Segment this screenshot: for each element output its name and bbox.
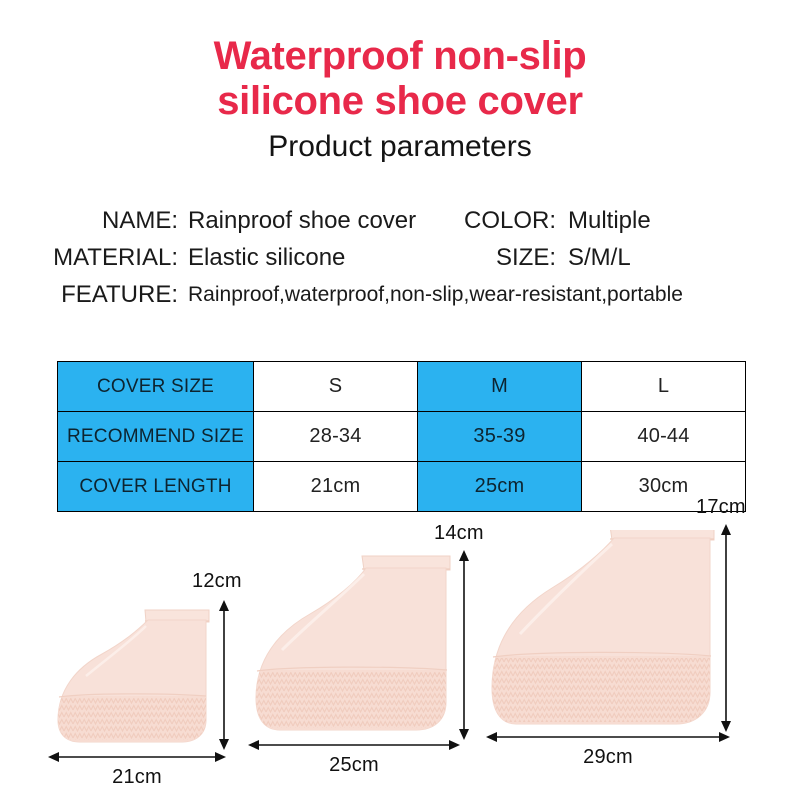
shoe-group-large: 17cm 29cm bbox=[486, 530, 746, 800]
feature-label: FEATURE: bbox=[0, 280, 178, 310]
shoe-group-small: 12cm 21cm bbox=[46, 550, 236, 800]
spec-row-feature: FEATURE: Rainproof,waterproof,non-slip,w… bbox=[0, 280, 800, 317]
shoe-large-height-arrow bbox=[716, 524, 736, 732]
shoe-medium-height-arrow bbox=[454, 550, 474, 740]
shoe-small-height-label: 12cm bbox=[192, 570, 242, 593]
cell-recommend-size-header: RECOMMEND SIZE bbox=[58, 412, 254, 462]
cell-cover-length-header: COVER LENGTH bbox=[58, 462, 254, 512]
spec-row-material: MATERIAL: Elastic silicone SIZE: S/M/L bbox=[0, 243, 800, 280]
cell-recommend-s: 28-34 bbox=[254, 412, 418, 462]
size-label: SIZE: bbox=[296, 243, 556, 273]
color-label: COLOR: bbox=[296, 206, 556, 236]
cell-size-m: M bbox=[418, 362, 582, 412]
cell-recommend-m: 35-39 bbox=[418, 412, 582, 462]
title-block: Waterproof non-slip silicone shoe cover bbox=[0, 34, 800, 124]
spec-block: NAME: Rainproof shoe cover COLOR: Multip… bbox=[0, 206, 800, 317]
cell-cover-size-header: COVER SIZE bbox=[58, 362, 254, 412]
name-label: NAME: bbox=[0, 206, 178, 236]
color-value: Multiple bbox=[568, 206, 651, 236]
table-row: COVER SIZE S M L bbox=[58, 362, 746, 412]
cell-size-l: L bbox=[582, 362, 746, 412]
material-label: MATERIAL: bbox=[0, 243, 178, 273]
shoe-small-width-label: 21cm bbox=[48, 766, 226, 789]
shoe-large-width-label: 29cm bbox=[486, 746, 730, 769]
shoe-small-height-arrow bbox=[214, 600, 234, 750]
cell-length-m: 25cm bbox=[418, 462, 582, 512]
table-row: RECOMMEND SIZE 28-34 35-39 40-44 bbox=[58, 412, 746, 462]
shoe-small-width-arrow bbox=[48, 748, 226, 766]
feature-value: Rainproof,waterproof,non-slip,wear-resis… bbox=[188, 280, 683, 310]
spec-row-name: NAME: Rainproof shoe cover COLOR: Multip… bbox=[0, 206, 800, 243]
subtitle: Product parameters bbox=[0, 129, 800, 165]
size-table: COVER SIZE S M L RECOMMEND SIZE 28-34 35… bbox=[57, 361, 746, 512]
cell-size-s: S bbox=[254, 362, 418, 412]
shoe-medium-width-arrow bbox=[248, 736, 460, 754]
title-line-2: silicone shoe cover bbox=[0, 79, 800, 124]
cell-recommend-l: 40-44 bbox=[582, 412, 746, 462]
shoe-illustrations: 12cm 21cm bbox=[0, 530, 800, 800]
shoe-large-height-label: 17cm bbox=[696, 496, 746, 519]
shoe-large-width-arrow bbox=[486, 728, 730, 746]
shoe-medium-height-label: 14cm bbox=[434, 522, 484, 545]
shoe-group-medium: 14cm 25cm bbox=[248, 538, 474, 800]
size-value: S/M/L bbox=[568, 243, 631, 273]
table-row: COVER LENGTH 21cm 25cm 30cm bbox=[58, 462, 746, 512]
shoe-medium-width-label: 25cm bbox=[248, 754, 460, 777]
cell-length-s: 21cm bbox=[254, 462, 418, 512]
title-line-1: Waterproof non-slip bbox=[0, 34, 800, 79]
